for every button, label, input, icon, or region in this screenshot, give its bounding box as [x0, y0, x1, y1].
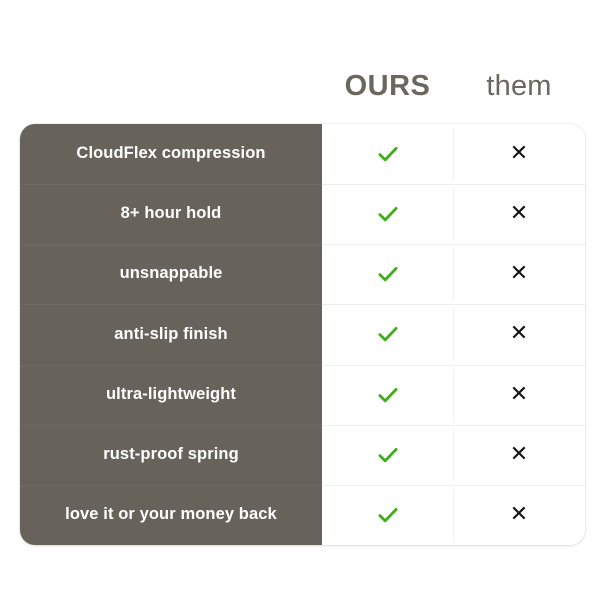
cross-icon: ✕ — [510, 384, 528, 406]
feature-cell: rust-proof spring — [20, 425, 322, 485]
table-row: ultra-lightweight✕ — [20, 365, 585, 425]
cross-icon: ✕ — [510, 444, 528, 466]
ours-cell — [322, 184, 453, 244]
comparison-header: OURS them — [322, 58, 585, 114]
comparison-table: CloudFlex compression✕8+ hour hold✕unsna… — [20, 124, 585, 545]
feature-cell: unsnappable — [20, 244, 322, 304]
cross-icon: ✕ — [510, 143, 528, 165]
table-row: rust-proof spring✕ — [20, 425, 585, 485]
feature-cell: CloudFlex compression — [20, 124, 322, 184]
feature-cell: love it or your money back — [20, 485, 322, 545]
feature-cell: 8+ hour hold — [20, 184, 322, 244]
check-icon — [375, 261, 401, 287]
comparison-page: OURS them CloudFlex compression✕8+ hour … — [0, 0, 600, 600]
check-icon — [375, 442, 401, 468]
cross-icon: ✕ — [510, 263, 528, 285]
them-cell: ✕ — [453, 184, 585, 244]
feature-label: unsnappable — [120, 264, 223, 284]
them-cell: ✕ — [453, 485, 585, 545]
column-header-them: them — [453, 72, 585, 101]
them-cell: ✕ — [453, 304, 585, 364]
ours-cell — [322, 124, 453, 184]
feature-label: ultra-lightweight — [106, 385, 236, 405]
ours-cell — [322, 365, 453, 425]
ours-cell — [322, 244, 453, 304]
cross-icon: ✕ — [510, 203, 528, 225]
column-header-ours: OURS — [322, 72, 453, 101]
check-icon — [375, 382, 401, 408]
cross-icon: ✕ — [510, 323, 528, 345]
table-row: 8+ hour hold✕ — [20, 184, 585, 244]
them-cell: ✕ — [453, 425, 585, 485]
ours-cell — [322, 485, 453, 545]
feature-label: anti-slip finish — [114, 325, 227, 345]
table-row: anti-slip finish✕ — [20, 304, 585, 364]
check-icon — [375, 321, 401, 347]
check-icon — [375, 141, 401, 167]
feature-cell: anti-slip finish — [20, 304, 322, 364]
feature-cell: ultra-lightweight — [20, 365, 322, 425]
them-cell: ✕ — [453, 124, 585, 184]
cross-icon: ✕ — [510, 504, 528, 526]
table-row: CloudFlex compression✕ — [20, 124, 585, 184]
them-cell: ✕ — [453, 365, 585, 425]
check-icon — [375, 201, 401, 227]
feature-label: 8+ hour hold — [121, 204, 222, 224]
check-icon — [375, 502, 401, 528]
table-row: love it or your money back✕ — [20, 485, 585, 545]
them-cell: ✕ — [453, 244, 585, 304]
feature-label: love it or your money back — [65, 505, 277, 525]
ours-cell — [322, 425, 453, 485]
feature-label: rust-proof spring — [103, 445, 239, 465]
table-row: unsnappable✕ — [20, 244, 585, 304]
feature-label: CloudFlex compression — [76, 144, 265, 164]
ours-cell — [322, 304, 453, 364]
